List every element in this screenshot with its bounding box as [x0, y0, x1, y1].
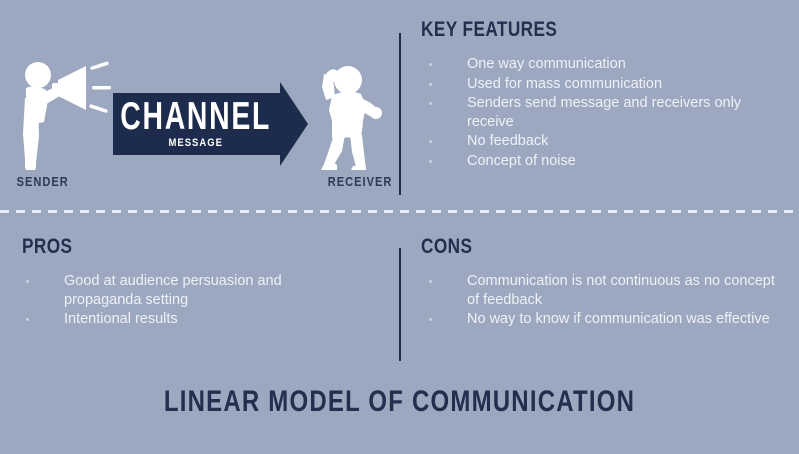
- bullet-dot-icon: [429, 83, 432, 86]
- list-item: No way to know if communication was effe…: [421, 310, 781, 329]
- list-item-text: Communication is not continuous as no co…: [467, 273, 775, 308]
- list-item: Good at audience persuasion and propagan…: [18, 272, 358, 309]
- pros-list: Good at audience persuasion and propagan…: [18, 272, 358, 330]
- list-item-text: One way communication: [467, 56, 626, 72]
- bullet-dot-icon: [429, 280, 432, 283]
- receiver-label: RECEIVER: [328, 174, 393, 189]
- horizontal-dashed-divider: [0, 210, 799, 213]
- cons-section: CONS Communication is not continuous as …: [399, 213, 799, 378]
- list-item-text: No feedback: [467, 133, 548, 149]
- vertical-divider-bottom: [399, 248, 401, 361]
- vertical-divider-top: [399, 33, 401, 195]
- list-item-text: Good at audience persuasion and propagan…: [64, 273, 282, 308]
- list-item: Concept of noise: [421, 152, 786, 171]
- page-title: LINEAR MODEL OF COMMUNICATION: [0, 385, 799, 419]
- key-features-heading: KEY FEATURES: [421, 18, 557, 42]
- list-item-text: Used for mass communication: [467, 76, 662, 92]
- sender-figure: [14, 58, 114, 175]
- list-item: Used for mass communication: [421, 75, 786, 94]
- right-arrow-icon: [110, 78, 310, 170]
- list-item-text: Concept of noise: [467, 153, 576, 169]
- sender-label: SENDER: [17, 174, 69, 189]
- bullet-dot-icon: [429, 140, 432, 143]
- infographic-canvas: SENDER CHANNEL MESSAGE: [0, 0, 799, 454]
- communication-flow-row: SENDER CHANNEL MESSAGE: [0, 0, 399, 210]
- key-features-section: KEY FEATURES One way communication Used …: [399, 0, 799, 210]
- person-listening-icon: [316, 60, 394, 170]
- bullet-dot-icon: [429, 318, 432, 321]
- list-item: One way communication: [421, 55, 786, 74]
- cons-list: Communication is not continuous as no co…: [421, 272, 781, 330]
- receiver-figure: [316, 60, 394, 175]
- bullet-dot-icon: [26, 318, 29, 321]
- bullet-dot-icon: [429, 63, 432, 66]
- list-item: Communication is not continuous as no co…: [421, 272, 781, 309]
- list-item-text: Intentional results: [64, 311, 178, 327]
- list-item: Senders send message and receivers only …: [421, 94, 786, 131]
- key-features-list: One way communication Used for mass comm…: [421, 55, 786, 171]
- pros-heading: PROS: [22, 235, 72, 259]
- list-item: No feedback: [421, 132, 786, 151]
- channel-arrow: CHANNEL MESSAGE: [110, 78, 310, 170]
- page-title-text: LINEAR MODEL OF COMMUNICATION: [164, 385, 635, 419]
- list-item-text: Senders send message and receivers only …: [467, 95, 741, 130]
- list-item: Intentional results: [18, 310, 358, 329]
- bullet-dot-icon: [429, 160, 432, 163]
- bullet-dot-icon: [429, 102, 432, 105]
- list-item-text: No way to know if communication was effe…: [467, 311, 770, 327]
- pros-section: PROS Good at audience persuasion and pro…: [0, 213, 399, 378]
- bullet-dot-icon: [26, 280, 29, 283]
- cons-heading: CONS: [421, 235, 472, 259]
- person-with-megaphone-icon: [14, 58, 114, 170]
